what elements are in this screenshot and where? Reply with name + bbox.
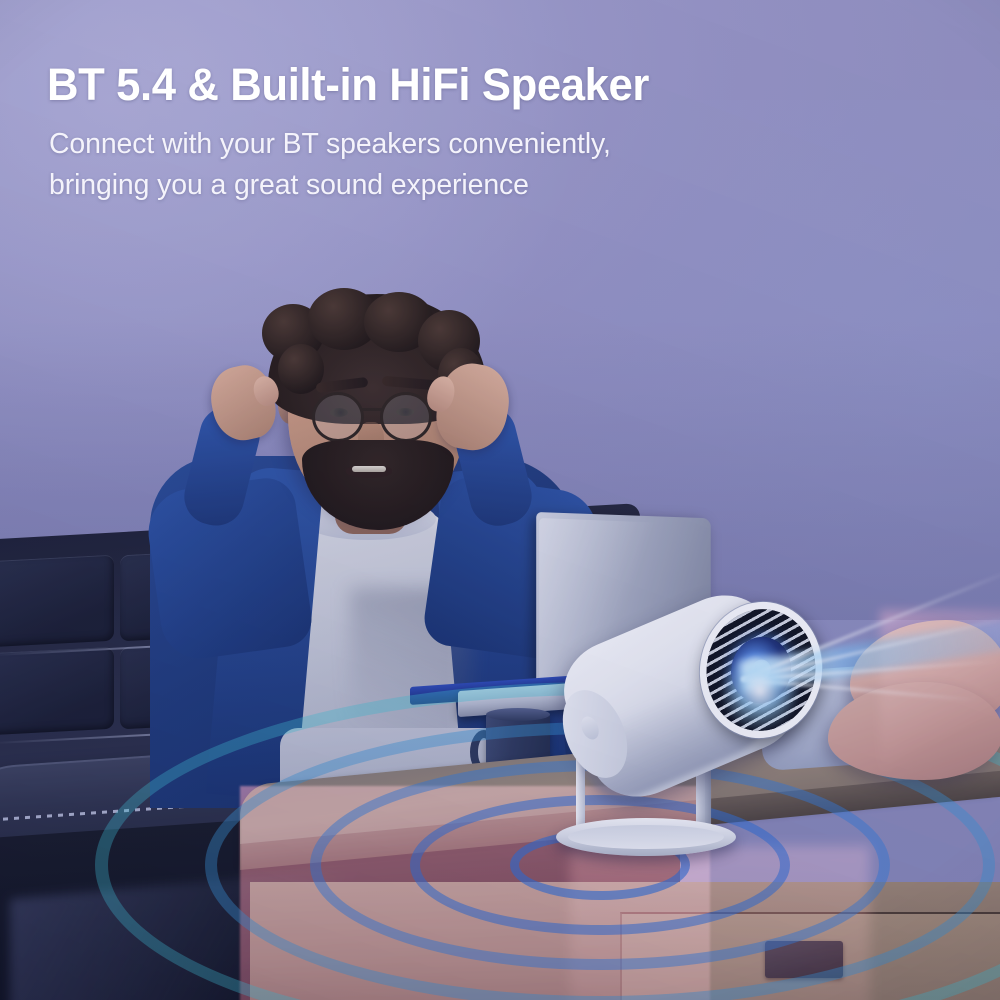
white-portable-projector xyxy=(548,596,848,856)
teeth xyxy=(352,466,386,472)
glasses-lens-left xyxy=(312,392,364,442)
subtitle-line-1: Connect with your BT speakers convenient… xyxy=(49,124,794,165)
sofa-tuft xyxy=(0,555,114,648)
product-banner-image: BT 5.4 & Built-in HiFi Speaker Connect w… xyxy=(0,0,1000,1000)
projector-lens-core xyxy=(748,656,773,684)
foot-pink-light xyxy=(880,610,1000,790)
glasses-bridge xyxy=(362,408,382,411)
glasses-lens-right xyxy=(380,392,432,442)
mug-rim xyxy=(486,708,550,721)
page-subtitle: Connect with your BT speakers convenient… xyxy=(49,124,794,206)
subtitle-line-2: bringing you a great sound experience xyxy=(49,165,794,206)
sofa-tuft xyxy=(0,647,114,736)
projector-base-inner xyxy=(568,825,724,849)
table-pink-light-wash-2 xyxy=(570,846,870,1000)
page-title: BT 5.4 & Built-in HiFi Speaker xyxy=(47,57,920,113)
